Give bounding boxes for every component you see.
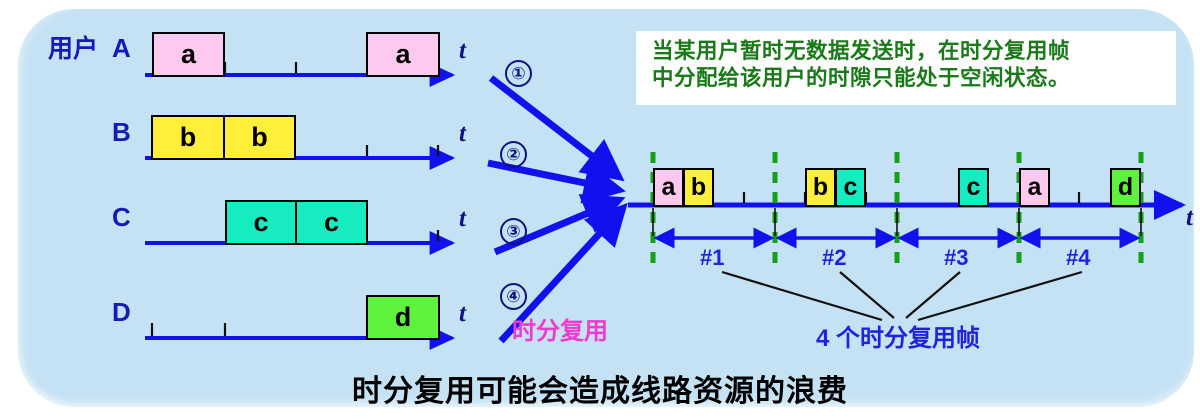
frame-leader-lines [722,272,1082,320]
axis-t-label-d: t [459,301,466,326]
frame-label-4: #4 [1066,245,1090,271]
user-label: 用户 [48,37,98,62]
packet-c1: c [225,200,297,245]
bottom-caption: 时分复用可能会造成线路资源的浪费 [352,366,848,410]
packet-a1: a [152,32,225,77]
mux-slot-f1-s1: b [683,168,714,207]
arrow-number-4: ④ [500,283,527,310]
arrow-number-2: ② [500,141,527,168]
tdm-label: 时分复用 [512,311,608,346]
row-label-b: B [112,119,131,145]
packet-d1: d [366,295,440,340]
diagram-stage: 用户 A B C D t t t t a a b b c c d ① ② ③ ④… [0,0,1200,419]
axis-t-label-a: t [459,38,466,63]
mux-slot-f4-s3: d [1110,168,1141,207]
row-label-a: A [112,35,131,61]
arrow-number-3: ③ [500,218,527,245]
frame-label-1: #1 [700,245,724,271]
note-box: 当某用户暂时无数据发送时，在时分复用帧 中分配给该用户的时隙只能处于空闲状态。 [636,31,1176,105]
mux-slot-f3-s2: c [958,168,989,207]
axis-t-label-b: t [459,121,466,146]
multiplexed-axis-t-label: t [1186,205,1193,230]
frame-label-2: #2 [822,245,846,271]
frame-label-3: #3 [944,245,968,271]
mux-slot-f2-s2: c [835,168,866,207]
axis-t-label-c: t [459,206,466,231]
packet-a2: a [366,32,440,77]
mux-slot-f2-s1: b [805,168,836,207]
note-line-1: 当某用户暂时无数据发送时，在时分复用帧 [652,38,1160,65]
packet-b2: b [223,115,296,160]
mux-slot-f1-s0: a [653,168,684,207]
row-label-c: C [112,204,131,230]
frame-droplines [653,208,1141,236]
arrow-number-1: ① [505,60,532,87]
row-label-d: D [112,299,131,325]
packet-c2: c [295,200,368,245]
mux-slot-f4-s0: a [1019,168,1050,207]
frames-caption: 4 个时分复用帧 [816,318,980,353]
note-line-2: 中分配给该用户的时隙只能处于空闲状态。 [652,65,1160,92]
packet-b1: b [151,115,225,160]
